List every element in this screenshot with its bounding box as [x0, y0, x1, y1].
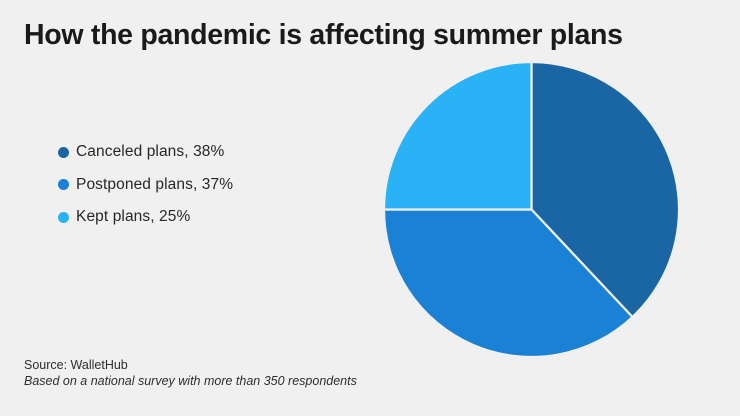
legend-swatch-icon [58, 147, 69, 158]
chart-canvas: How the pandemic is affecting summer pla… [0, 0, 740, 416]
legend-item-kept-plans[interactable]: Kept plans, 25% [58, 201, 358, 234]
legend-item-label: Postponed plans, 37% [76, 176, 233, 194]
legend-item-label: Kept plans, 25% [76, 208, 190, 226]
legend-item-postponed-plans[interactable]: Postponed plans, 37% [58, 169, 358, 202]
legend-item-canceled-plans[interactable]: Canceled plans, 38% [58, 136, 358, 169]
pie-slice[interactable] [384, 62, 532, 210]
legend-swatch-icon [58, 212, 69, 223]
footer-source-text: Source: WalletHub [24, 357, 524, 373]
pie-chart-svg [383, 61, 680, 358]
chart-footer: Source: WalletHub Based on a national su… [24, 357, 524, 389]
pie-chart [383, 61, 680, 358]
legend-swatch-icon [58, 179, 69, 190]
page-title: How the pandemic is affecting summer pla… [24, 19, 714, 52]
footer-note-text: Based on a national survey with more tha… [24, 373, 524, 389]
pie-slice-group [384, 62, 679, 357]
chart-legend: Canceled plans, 38% Postponed plans, 37%… [58, 136, 358, 234]
legend-item-label: Canceled plans, 38% [76, 143, 224, 161]
